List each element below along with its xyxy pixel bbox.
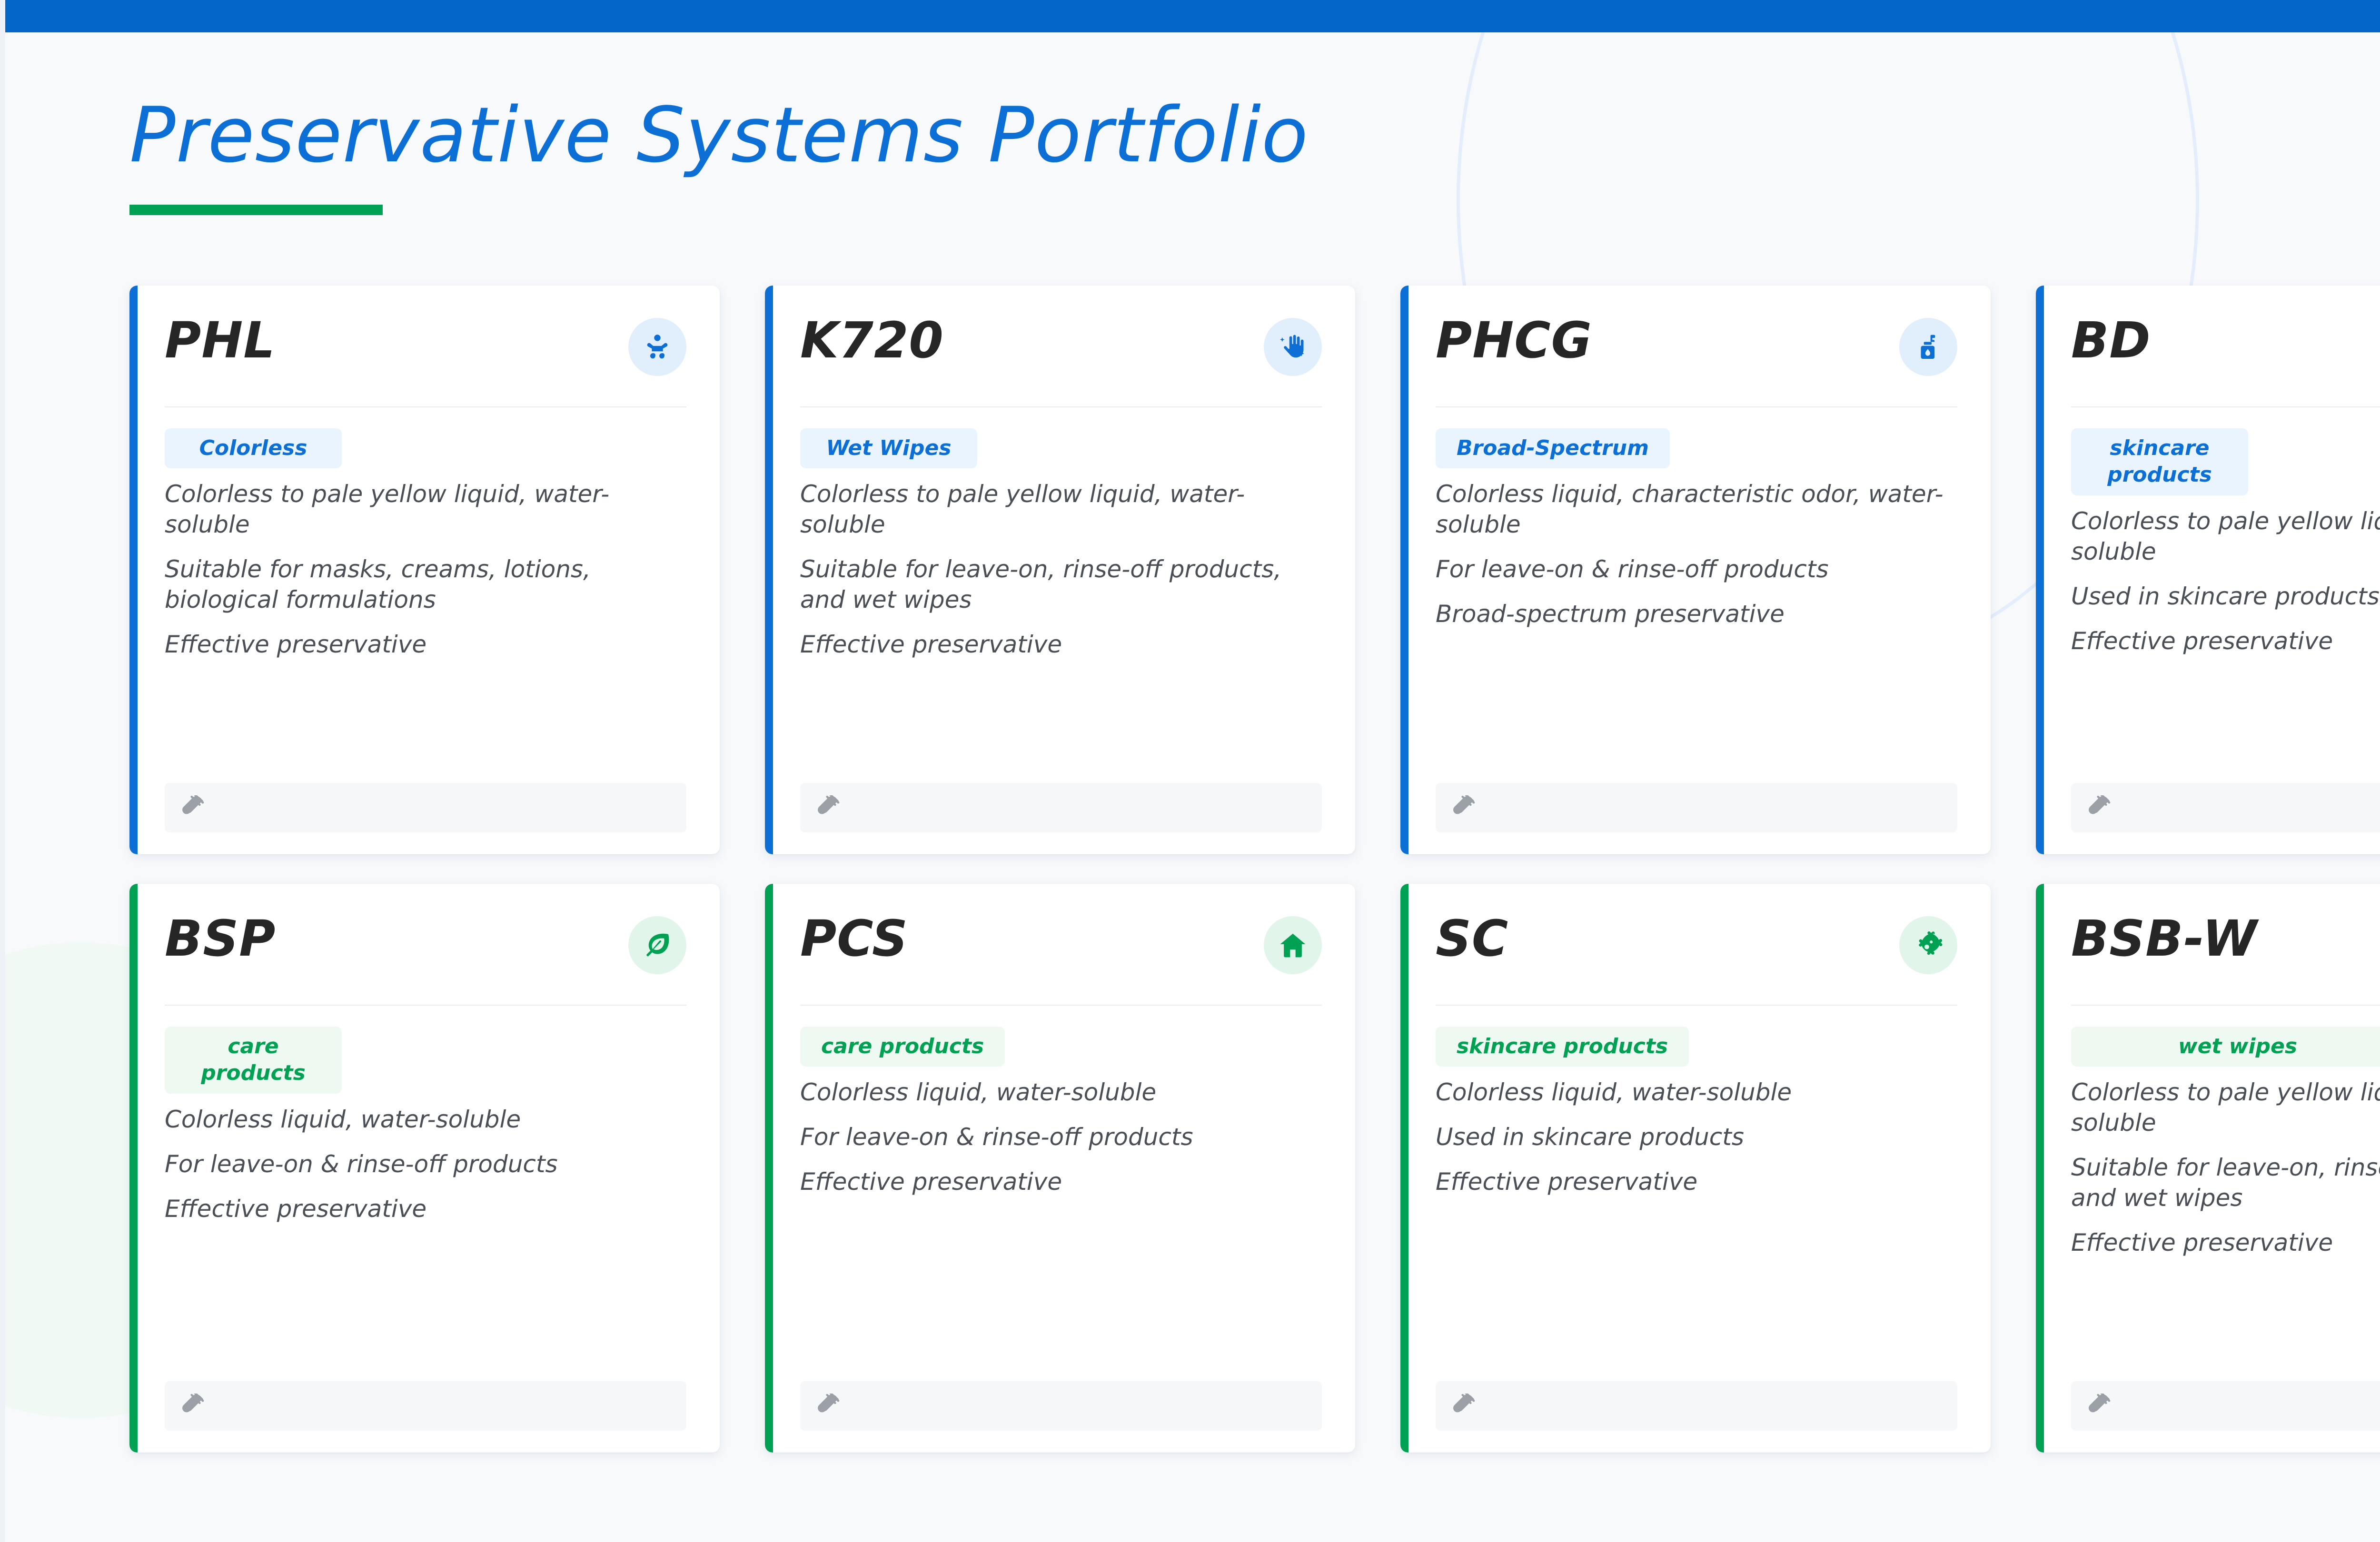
category-badge[interactable]: Colorless <box>165 428 342 468</box>
product-card[interactable]: BSPcare productsColorless liquid, water-… <box>129 884 720 1453</box>
card-divider <box>165 1005 686 1006</box>
card-title: PCS <box>800 911 908 966</box>
card-accent-bar <box>1400 884 1408 1453</box>
card-divider <box>1436 1005 1957 1006</box>
card-bullet-list: Colorless liquid, water-solubleFor leave… <box>800 1077 1322 1363</box>
page-root: Preservative Systems Portfolio PHLColorl… <box>0 0 2380 1542</box>
product-card[interactable]: PHLColorlessColorless to pale yellow liq… <box>129 286 720 854</box>
clean-hand-icon <box>1264 318 1322 376</box>
card-bullet: Effective preservative <box>2071 626 2380 656</box>
card-bullet: Colorless to pale yellow liquid, water-s… <box>2071 1077 2380 1138</box>
card-accent-bar <box>765 286 773 854</box>
badge-row: care products <box>165 1027 686 1094</box>
card-bullet: Colorless liquid, water-soluble <box>165 1104 686 1135</box>
card-bullet: For leave-on & rinse-off products <box>165 1149 686 1179</box>
leaf-icon <box>628 916 686 974</box>
card-bullet-list: Colorless to pale yellow liquid, water-s… <box>800 479 1322 765</box>
test-tube-icon <box>1452 1394 1477 1418</box>
category-badge[interactable]: Broad-Spectrum <box>1436 428 1670 468</box>
card-bullet: Colorless liquid, water-soluble <box>1436 1077 1957 1107</box>
card-bullet: Suitable for leave-on, rinse-off product… <box>2071 1152 2380 1213</box>
card-footer <box>1436 783 1957 832</box>
card-bullet: Colorless liquid, water-soluble <box>800 1077 1322 1107</box>
card-footer <box>165 783 686 832</box>
product-card[interactable]: PCScare productsColorless liquid, water-… <box>765 884 1355 1453</box>
card-divider <box>2071 406 2380 407</box>
page-title: Preservative Systems Portfolio <box>129 95 1309 175</box>
card-header: PCS <box>800 911 1322 1005</box>
card-bullet-list: Colorless to pale yellow liquid, water-s… <box>2071 506 2380 765</box>
title-underline-rule <box>129 205 383 215</box>
card-bullet: Used in skincare products <box>2071 581 2380 612</box>
card-accent-bar <box>129 286 138 854</box>
left-edge-rail <box>0 0 5 1542</box>
badge-row: skincare products <box>1436 1027 1957 1067</box>
card-footer <box>800 783 1322 832</box>
card-divider <box>1436 406 1957 407</box>
card-title: SC <box>1436 911 1508 966</box>
test-tube-icon <box>816 1394 841 1418</box>
category-badge[interactable]: skincare products <box>1436 1027 1689 1067</box>
card-bullet: Effective preservative <box>165 629 686 660</box>
card-bullet: Broad-spectrum preservative <box>1436 599 1957 629</box>
product-card[interactable]: BDskincare productsColorless to pale yel… <box>2036 286 2380 854</box>
card-bullet: Effective preservative <box>1436 1166 1957 1197</box>
test-tube-icon <box>1452 795 1477 820</box>
category-badge[interactable]: Wet Wipes <box>800 428 977 468</box>
card-header: BSB-W <box>2071 911 2380 1005</box>
card-title: PHCG <box>1436 313 1592 367</box>
card-bullet: Suitable for masks, creams, lotions, bio… <box>165 554 686 615</box>
card-footer <box>1436 1381 1957 1431</box>
card-accent-bar <box>2036 884 2044 1453</box>
badge-row: Broad-Spectrum <box>1436 428 1957 468</box>
card-accent-bar <box>129 884 138 1453</box>
category-badge[interactable]: care products <box>800 1027 1005 1067</box>
badge-row: wet wipes <box>2071 1027 2380 1067</box>
card-header: SC <box>1436 911 1957 1005</box>
card-bullet: For leave-on & rinse-off products <box>800 1122 1322 1152</box>
card-title: BD <box>2071 313 2151 367</box>
card-accent-bar <box>765 884 773 1453</box>
card-divider <box>800 406 1322 407</box>
card-bullet: Colorless liquid, characteristic odor, w… <box>1436 479 1957 540</box>
card-divider <box>165 406 686 407</box>
card-bullet: Effective preservative <box>800 1166 1322 1197</box>
top-accent-bar <box>5 0 2380 32</box>
category-badge[interactable]: care products <box>165 1027 342 1094</box>
card-bullet-list: Colorless liquid, water-solubleFor leave… <box>165 1104 686 1363</box>
badge-row: Wet Wipes <box>800 428 1322 468</box>
card-header: BD <box>2071 313 2380 406</box>
card-accent-bar <box>2036 286 2044 854</box>
category-badge[interactable]: skincare products <box>2071 428 2248 495</box>
card-footer <box>165 1381 686 1431</box>
card-bullet-list: Colorless to pale yellow liquid, water-s… <box>165 479 686 765</box>
product-card[interactable]: BSB-Wwet wipesColorless to pale yellow l… <box>2036 884 2380 1453</box>
card-bullet: Colorless to pale yellow liquid, water-s… <box>2071 506 2380 567</box>
card-title: BSP <box>165 911 276 966</box>
test-tube-icon <box>2087 795 2112 820</box>
test-tube-icon <box>181 795 206 820</box>
card-accent-bar <box>1400 286 1408 854</box>
product-card[interactable]: PHCGBroad-SpectrumColorless liquid, char… <box>1400 286 1991 854</box>
card-footer <box>2071 1381 2380 1431</box>
card-header: PHCG <box>1436 313 1957 406</box>
product-card[interactable]: SCskincare productsColorless liquid, wat… <box>1400 884 1991 1453</box>
card-bullet-list: Colorless liquid, characteristic odor, w… <box>1436 479 1957 765</box>
card-bullet: Effective preservative <box>800 629 1322 660</box>
card-footer <box>800 1381 1322 1431</box>
card-bullet: Effective preservative <box>165 1194 686 1224</box>
baby-icon <box>628 318 686 376</box>
product-card-grid: PHLColorlessColorless to pale yellow liq… <box>129 286 2380 1453</box>
card-bullet: For leave-on & rinse-off products <box>1436 554 1957 584</box>
card-bullet: Colorless to pale yellow liquid, water-s… <box>800 479 1322 540</box>
card-bullet: Colorless to pale yellow liquid, water-s… <box>165 479 686 540</box>
card-bullet: Suitable for leave-on, rinse-off product… <box>800 554 1322 615</box>
card-bullet: Used in skincare products <box>1436 1122 1957 1152</box>
test-tube-icon <box>181 1394 206 1418</box>
card-header: K720 <box>800 313 1322 406</box>
page-header: Preservative Systems Portfolio <box>129 95 1309 215</box>
card-divider <box>800 1005 1322 1006</box>
card-title: BSB-W <box>2071 911 2258 966</box>
card-bullet-list: Colorless liquid, water-solubleUsed in s… <box>1436 1077 1957 1363</box>
product-card[interactable]: K720Wet WipesColorless to pale yellow li… <box>765 286 1355 854</box>
test-tube-icon <box>816 795 841 820</box>
soap-dispenser-icon <box>1899 318 1957 376</box>
card-bullet: Effective preservative <box>2071 1227 2380 1258</box>
badge-row: care products <box>800 1027 1322 1067</box>
card-bullet-list: Colorless to pale yellow liquid, water-s… <box>2071 1077 2380 1363</box>
card-title: PHL <box>165 313 276 367</box>
bacteria-icon <box>1899 916 1957 974</box>
category-badge[interactable]: wet wipes <box>2071 1027 2380 1067</box>
card-footer <box>2071 783 2380 832</box>
home-icon <box>1264 916 1322 974</box>
card-title: K720 <box>800 313 944 367</box>
card-header: BSP <box>165 911 686 1005</box>
card-divider <box>2071 1005 2380 1006</box>
test-tube-icon <box>2087 1394 2112 1418</box>
badge-row: skincare products <box>2071 428 2380 495</box>
card-header: PHL <box>165 313 686 406</box>
badge-row: Colorless <box>165 428 686 468</box>
